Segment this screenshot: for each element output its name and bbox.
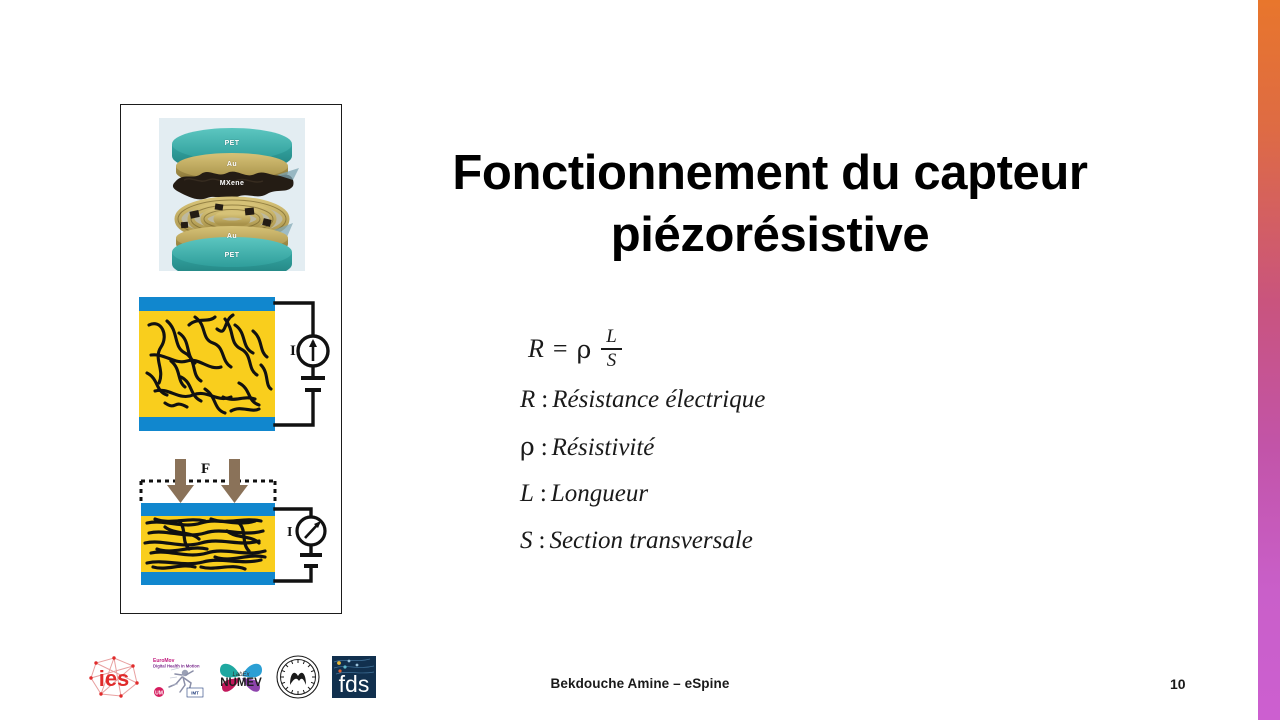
fraction-denominator: S bbox=[602, 350, 622, 371]
fraction-numerator: L bbox=[601, 327, 622, 348]
fds-logo: fds bbox=[330, 653, 378, 701]
definition-resistance: R:Résistance électrique bbox=[520, 376, 1080, 423]
formula-block: R = ρ L S R:Résistance électrique ρ:Rési… bbox=[520, 322, 1080, 564]
accent-gradient-bar bbox=[1258, 0, 1280, 720]
ies-logo-svg: ies bbox=[88, 655, 140, 699]
electrode-top bbox=[139, 297, 275, 311]
composite-relaxed-figure: I bbox=[135, 291, 331, 451]
layer-label-au-bottom: Au bbox=[159, 233, 305, 240]
definition-text: Résistivité bbox=[552, 434, 655, 461]
equation-left-term: R bbox=[528, 334, 544, 364]
footer-presenter-text: Bekdouche Amine – eSpine bbox=[440, 676, 840, 691]
equation-equals-sign: = bbox=[553, 334, 568, 364]
definition-section: S:Section transversale bbox=[520, 517, 1080, 564]
definition-text: Résistance électrique bbox=[552, 386, 765, 413]
fds-logo-svg: fds bbox=[330, 654, 378, 700]
equation-fraction: L S bbox=[601, 327, 622, 370]
definition-symbol: ρ bbox=[520, 432, 535, 461]
ies-logo: ies bbox=[88, 653, 140, 701]
definition-separator: : bbox=[541, 434, 548, 461]
sensor-illustration-panel: PET Au MXene Au PET bbox=[120, 104, 342, 614]
definition-symbol: S bbox=[520, 527, 533, 554]
definition-symbol: L bbox=[520, 480, 534, 507]
fds-logo-text: fds bbox=[339, 671, 370, 697]
definition-text: Longueur bbox=[551, 480, 648, 507]
definition-length: L:Longueur bbox=[520, 470, 1080, 517]
euromov-logo-svg: EuroMov Digital Health in Motion UM IMT bbox=[149, 654, 207, 700]
force-arrow-right bbox=[221, 459, 248, 503]
layer-label-pet-bottom: PET bbox=[159, 252, 305, 259]
current-label-compressed: I bbox=[287, 525, 292, 540]
electrode-top bbox=[141, 503, 275, 516]
montpellier-monogram bbox=[290, 673, 306, 685]
definition-resistivity: ρ:Résistivité bbox=[520, 423, 1080, 470]
layer-label-pet-top: PET bbox=[159, 140, 305, 147]
numev-logo: LabEx NUMEV bbox=[216, 653, 266, 701]
numev-logo-text: NUMEV bbox=[220, 677, 262, 689]
composite-compressed-svg: F bbox=[135, 457, 331, 597]
page-number: 10 bbox=[1170, 676, 1210, 692]
electrode-bottom bbox=[141, 572, 275, 585]
title-line-1: Fonctionnement du capteur bbox=[400, 142, 1140, 204]
resistance-equation: R = ρ L S bbox=[520, 322, 1080, 376]
definition-text: Section transversale bbox=[549, 527, 752, 554]
current-label-relaxed: I bbox=[290, 343, 296, 359]
universite-montpellier-seal bbox=[275, 653, 321, 701]
euromov-logo-subtext: Digital Health in Motion bbox=[153, 664, 200, 669]
title-line-2: piézorésistive bbox=[400, 204, 1140, 266]
svg-text:UM: UM bbox=[155, 691, 163, 697]
layer-label-mxene: MXene bbox=[159, 180, 305, 187]
universite-seal-svg bbox=[275, 654, 321, 700]
force-label: F bbox=[201, 461, 210, 477]
equation-rho-symbol: ρ bbox=[577, 335, 592, 364]
electrode-bottom bbox=[139, 417, 275, 431]
definition-separator: : bbox=[539, 527, 546, 554]
svg-text:IMT: IMT bbox=[191, 691, 199, 696]
layer-label-au-top: Au bbox=[159, 161, 305, 168]
partner-logo-strip: ies EuroMov Digital Health in Motion UM … bbox=[88, 652, 368, 702]
definition-symbol: R bbox=[520, 386, 535, 413]
numev-logo-svg: LabEx NUMEV bbox=[216, 654, 266, 700]
euromov-logo: EuroMov Digital Health in Motion UM IMT bbox=[149, 653, 207, 701]
composite-compressed-figure: F bbox=[135, 457, 331, 597]
composite-relaxed-svg: I bbox=[135, 291, 331, 451]
sensor-stack-figure: PET Au MXene Au PET bbox=[159, 118, 305, 271]
page-title: Fonctionnement du capteur piézorésistive bbox=[400, 142, 1140, 266]
definition-separator: : bbox=[540, 480, 547, 507]
ies-logo-text: ies bbox=[99, 666, 130, 691]
definition-separator: : bbox=[541, 386, 548, 413]
